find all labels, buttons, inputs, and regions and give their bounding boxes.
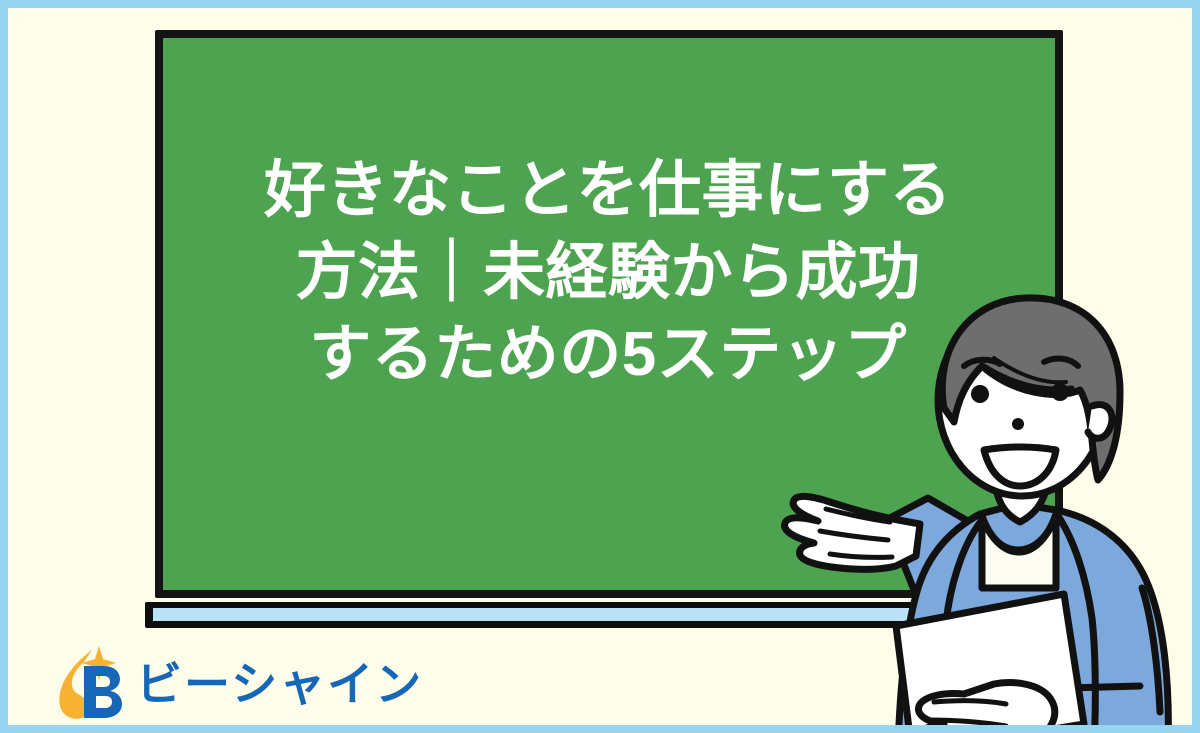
b-shine-logo-mark: [54, 646, 126, 722]
poster-canvas: 好きなことを仕事にする 方法｜未経験から成功 するための5ステップ: [0, 0, 1200, 733]
presenter-nose: [1012, 418, 1024, 430]
logo-b-letter: [84, 666, 122, 718]
presenter-eye-left: [971, 385, 989, 403]
brand-logo-text: ビーシャイン: [136, 661, 423, 707]
presenter-ear: [1088, 405, 1112, 439]
brand-logo[interactable]: ビーシャイン: [54, 646, 423, 722]
presenter-illustration: [768, 288, 1200, 733]
presenter-eye-right: [1051, 383, 1069, 401]
headline-line-1: 好きなことを仕事にする: [183, 150, 1033, 232]
